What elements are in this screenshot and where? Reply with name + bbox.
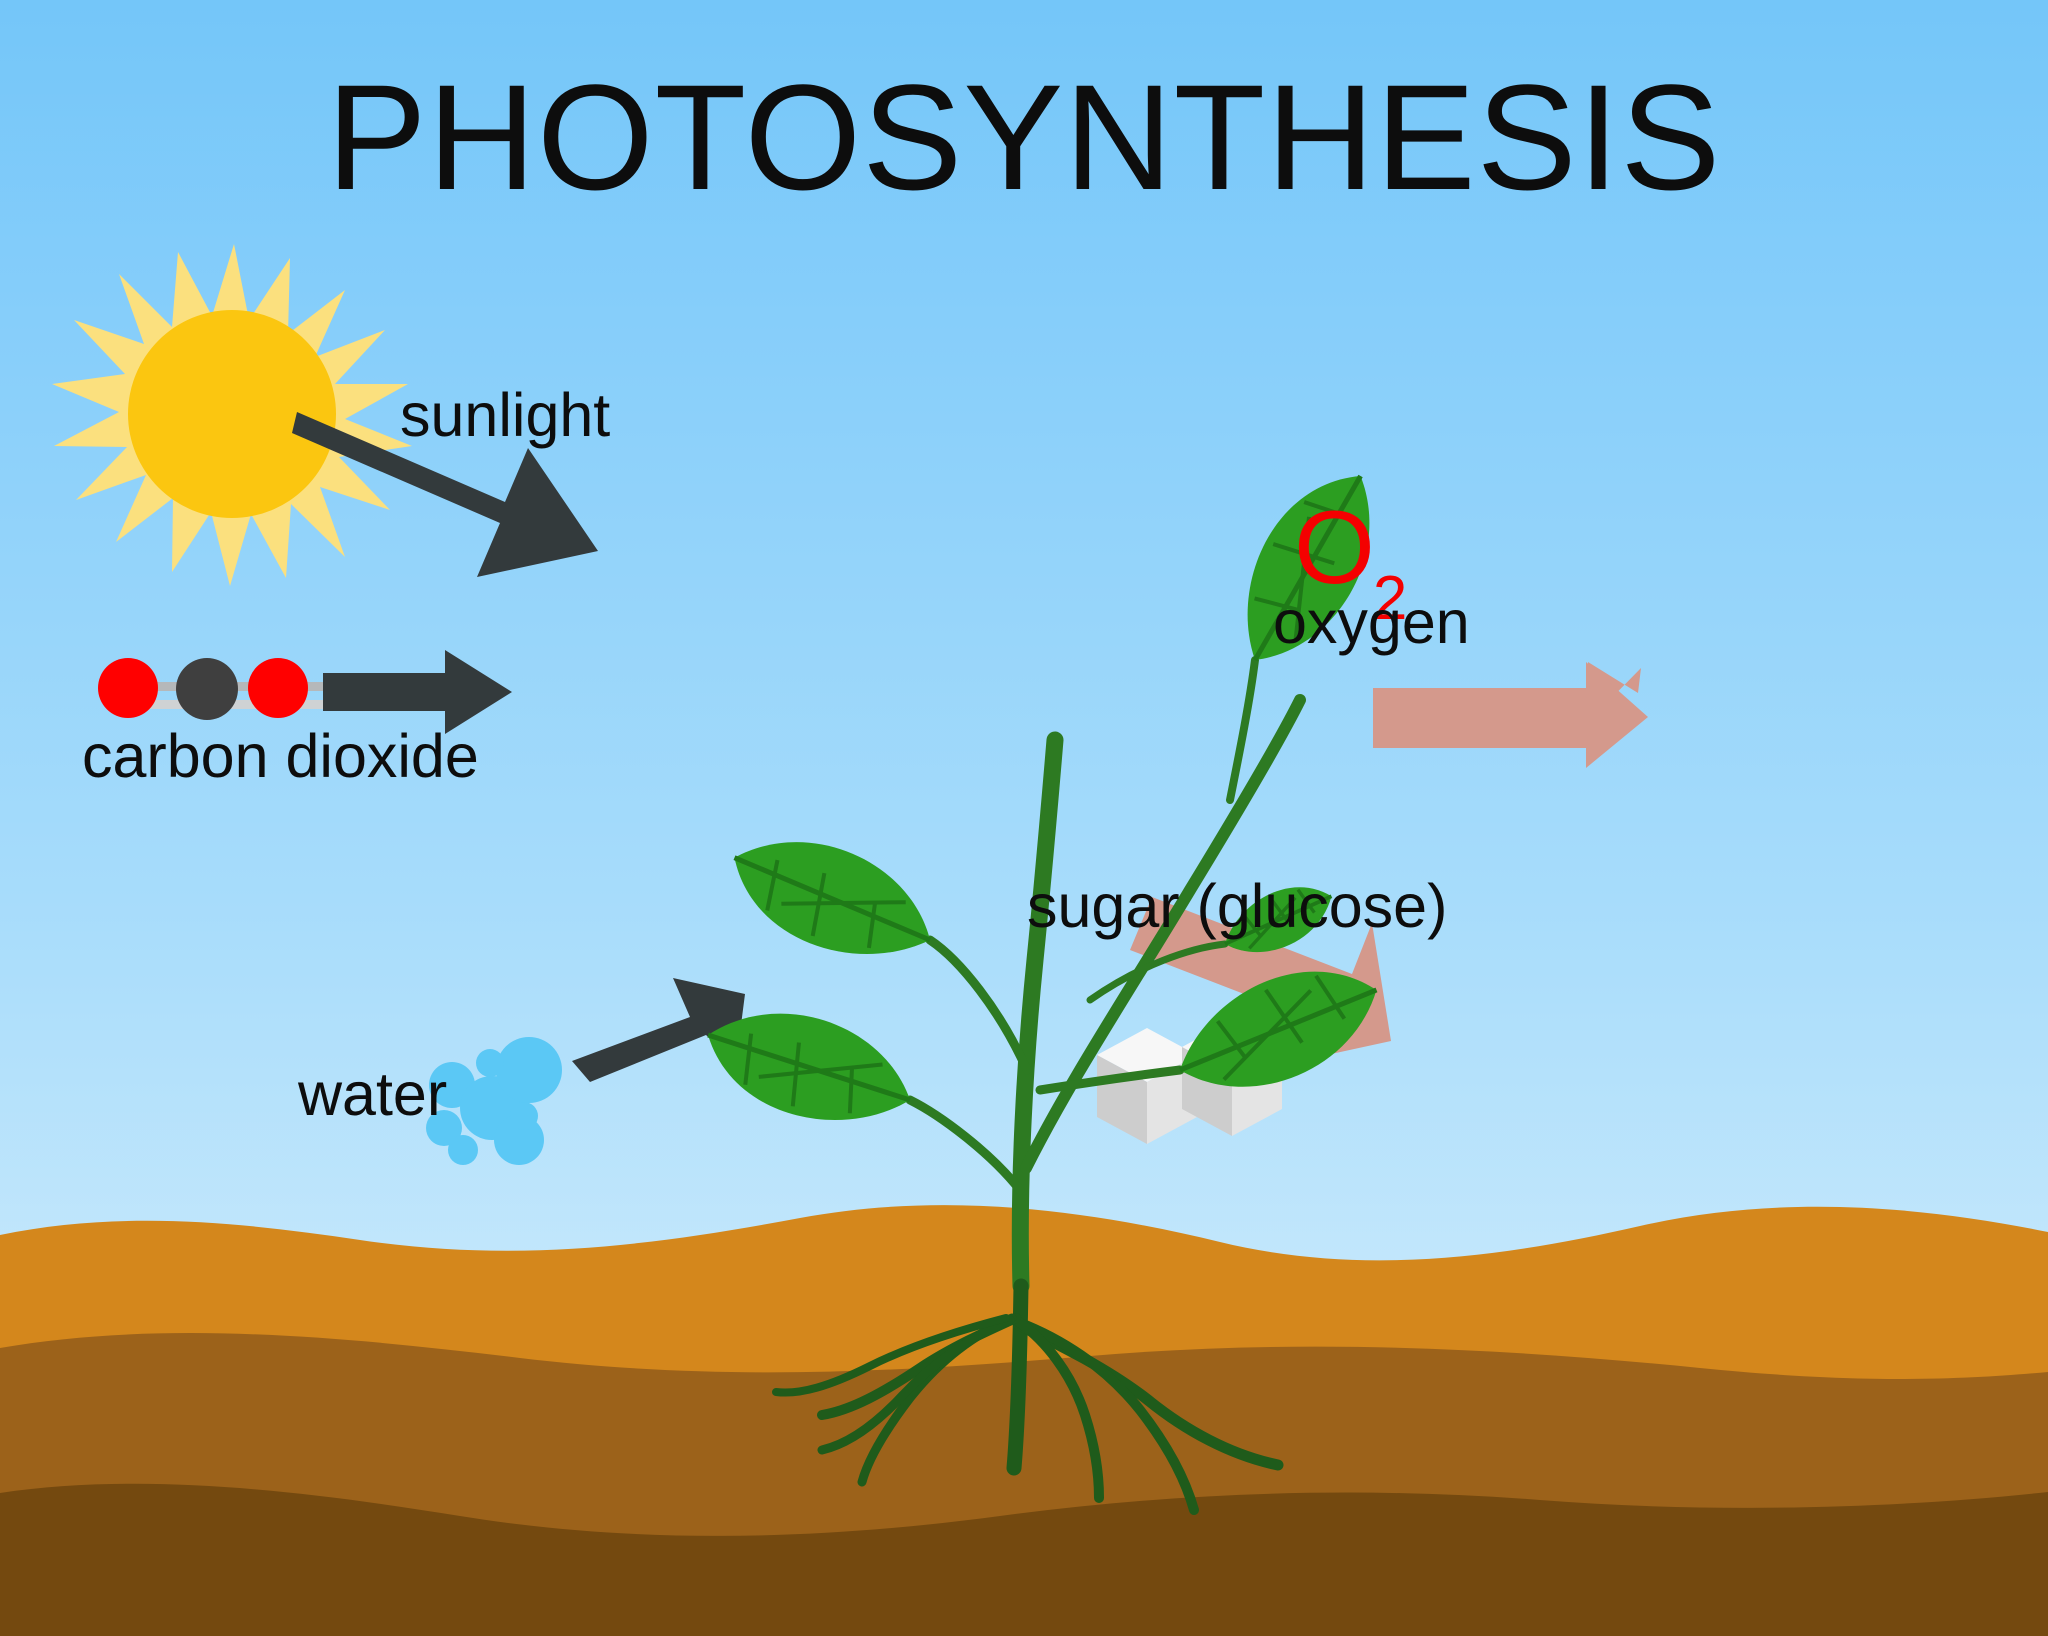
oxygen-atom-left — [98, 658, 158, 718]
sunlight-label: sunlight — [400, 385, 610, 446]
photosynthesis-diagram: PHOTOSYNTHESIS sunlight carbon dioxide w… — [0, 0, 2048, 1636]
page-title: PHOTOSYNTHESIS — [327, 62, 1722, 212]
carbon-atom — [176, 658, 238, 720]
sugar-glucose-label: sugar (glucose) — [1027, 876, 1447, 937]
oxygen-label: oxygen — [1273, 592, 1470, 653]
water-label: water — [298, 1064, 447, 1125]
carbon-dioxide-label: carbon dioxide — [82, 726, 479, 787]
diagram-canvas — [0, 0, 2048, 1636]
oxygen-atom-right — [248, 658, 308, 718]
